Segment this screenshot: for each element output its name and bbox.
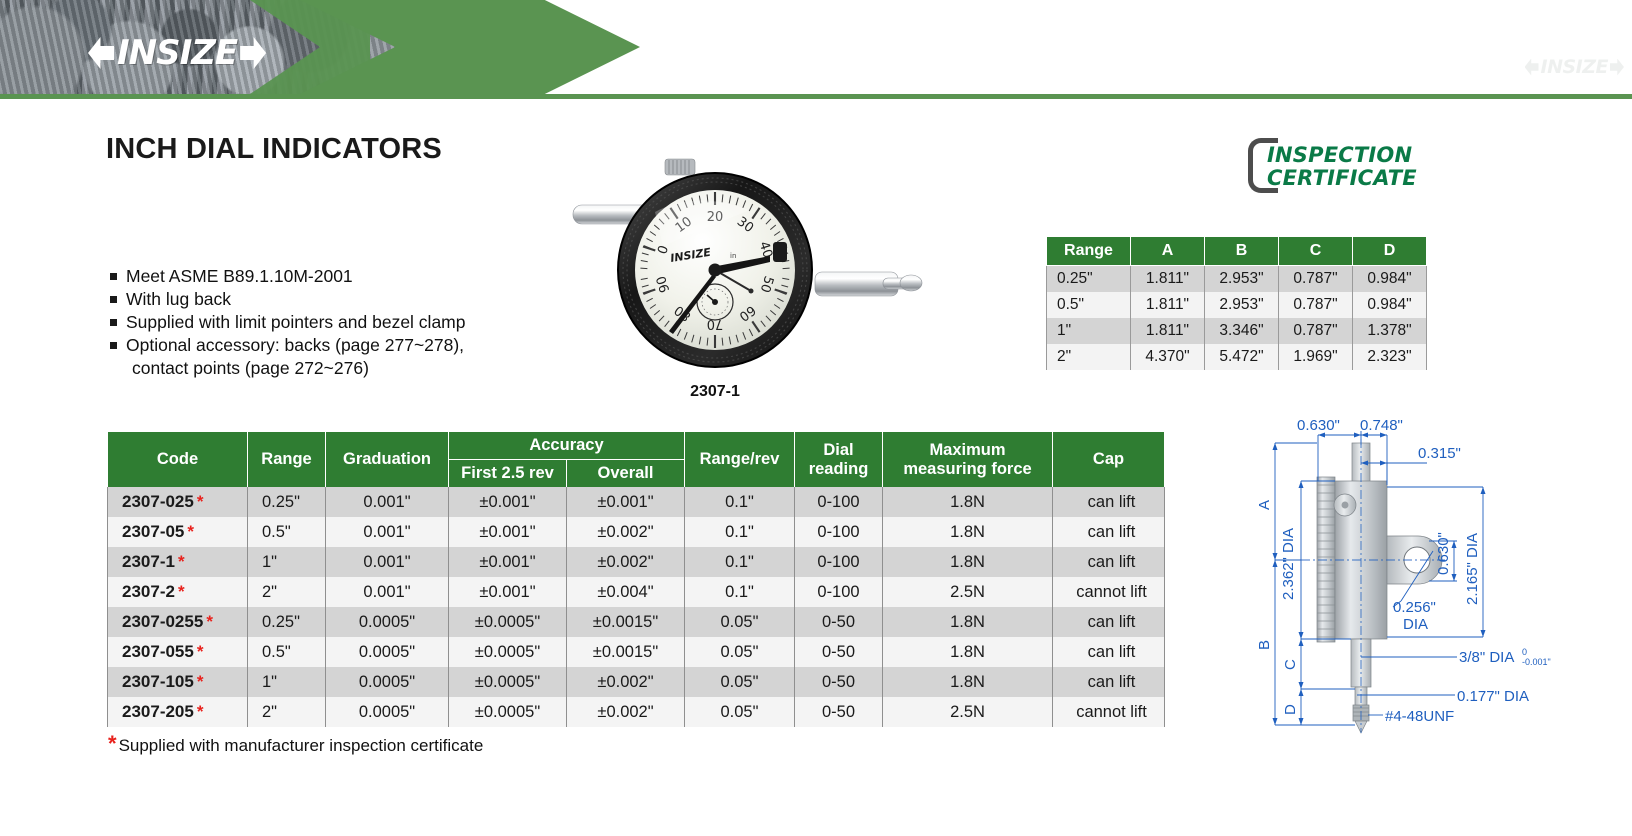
cell-range: 0.5" xyxy=(248,637,326,667)
list-item-continuation: contact points (page 272~276) xyxy=(132,357,630,379)
dim-0256-dia-line2: DIA xyxy=(1403,616,1428,633)
cell-code: 2307-05* xyxy=(108,517,248,547)
cell-range: 2" xyxy=(248,577,326,607)
table-row: 1" 1.811" 3.346" 0.787" 1.378" xyxy=(1047,318,1427,344)
cell-range-per-rev: 0.05" xyxy=(685,607,795,637)
cell-range-per-rev: 0.1" xyxy=(685,517,795,547)
dim-0748-top: 0.748" xyxy=(1360,417,1403,434)
cell-c: 0.787" xyxy=(1279,266,1353,293)
dim-2165-dia: 2.165" DIA xyxy=(1464,533,1481,605)
col-range: Range xyxy=(248,432,326,487)
spindle-rod xyxy=(815,272,922,296)
cell-b: 5.472" xyxy=(1205,344,1279,370)
cell-force: 1.8N xyxy=(883,517,1053,547)
col-a: A xyxy=(1131,237,1205,266)
list-item-label: Supplied with limit pointers and bezel c… xyxy=(126,311,465,333)
code-value: 2307-2 xyxy=(122,582,175,601)
col-dial-reading: Dial reading xyxy=(795,432,883,487)
cell-accuracy-first: ±0.0005" xyxy=(449,667,567,697)
cell-accuracy-overall: ±0.002" xyxy=(567,547,685,577)
table-row: 2307-205* 2" 0.0005" ±0.0005" ±0.002" 0.… xyxy=(108,697,1165,727)
code-value: 2307-025 xyxy=(122,492,194,511)
bullet-square-icon xyxy=(110,319,117,326)
cell-cap: can lift xyxy=(1053,547,1165,577)
watermark-arrow-left-icon xyxy=(1525,59,1539,76)
certificate-asterisk: * xyxy=(178,582,185,601)
insize-watermark-logo: INSIZE xyxy=(1525,56,1624,78)
code-value: 2307-055 xyxy=(122,642,194,661)
dim-stem-tol-lower: -0.001" xyxy=(1522,657,1551,667)
list-item: Optional accessory: backs (page 277~278)… xyxy=(110,334,630,356)
bullet-square-icon xyxy=(110,342,117,349)
inspection-certificate-badge: INSPECTION CERTIFICATE xyxy=(1248,138,1463,200)
dimension-table: Range A B C D 0.25" 1.811" 2.953" 0.787"… xyxy=(1046,236,1427,370)
dim-letter-a: A xyxy=(1256,500,1273,510)
watermark-arrow-right-icon xyxy=(1610,59,1624,76)
cell-code: 2307-025* xyxy=(108,487,248,517)
cell-accuracy-overall: ±0.002" xyxy=(567,697,685,727)
cell-accuracy-first: ±0.001" xyxy=(449,547,567,577)
col-accuracy-group: Accuracy xyxy=(449,432,685,460)
catalog-page: INSIZE INSIZE INCH DIAL INDICATORS Meet … xyxy=(0,0,1632,836)
list-item-label: With lug back xyxy=(126,288,231,310)
cell-a: 1.811" xyxy=(1131,292,1205,318)
cell-force: 1.8N xyxy=(883,547,1053,577)
cell-dial-reading: 0-100 xyxy=(795,487,883,517)
table-row: 2307-055* 0.5" 0.0005" ±0.0005" ±0.0015"… xyxy=(108,637,1165,667)
max-force-line1: Maximum xyxy=(929,441,1005,459)
certificate-asterisk: * xyxy=(206,612,213,631)
cell-graduation: 0.0005" xyxy=(326,637,449,667)
table-row: 2307-05* 0.5" 0.001" ±0.001" ±0.002" 0.1… xyxy=(108,517,1165,547)
cell-code: 2307-105* xyxy=(108,667,248,697)
col-b: B xyxy=(1205,237,1279,266)
list-item: Supplied with limit pointers and bezel c… xyxy=(110,311,630,333)
cell-d: 0.984" xyxy=(1353,292,1427,318)
col-max-measuring-force: Maximum measuring force xyxy=(883,432,1053,487)
certificate-asterisk: * xyxy=(197,642,204,661)
cell-accuracy-overall: ±0.001" xyxy=(567,487,685,517)
cell-dial-reading: 0-50 xyxy=(795,607,883,637)
cell-code: 2307-205* xyxy=(108,697,248,727)
col-range-per-rev: Range/rev xyxy=(685,432,795,487)
cell-accuracy-first: ±0.0005" xyxy=(449,637,567,667)
dim-letter-c: C xyxy=(1282,659,1299,670)
inspection-label: INSPECTION xyxy=(1267,144,1417,167)
cell-graduation: 0.001" xyxy=(326,517,449,547)
cell-accuracy-overall: ±0.0015" xyxy=(567,607,685,637)
drawing-bezel-knurl xyxy=(1317,477,1335,642)
cell-range-per-rev: 0.05" xyxy=(685,697,795,727)
product-caption: 2307-1 xyxy=(565,383,865,401)
table-row: 0.25" 1.811" 2.953" 0.787" 0.984" xyxy=(1047,266,1427,293)
cell-force: 1.8N xyxy=(883,487,1053,517)
dial-reading-line1: Dial xyxy=(823,441,853,459)
footnote-asterisk: * xyxy=(108,736,117,752)
dial-unit-label: in xyxy=(730,252,736,260)
cell-cap: can lift xyxy=(1053,607,1165,637)
insize-logo-text: INSIZE xyxy=(117,36,237,70)
header-divider xyxy=(0,94,1632,99)
cell-graduation: 0.001" xyxy=(326,487,449,517)
cell-code: 2307-055* xyxy=(108,637,248,667)
cell-accuracy-first: ±0.001" xyxy=(449,517,567,547)
dim-0315: 0.315" xyxy=(1418,445,1461,462)
dim-stem-tol-upper: 0 xyxy=(1522,647,1527,657)
cell-c: 0.787" xyxy=(1279,318,1353,344)
cell-accuracy-first: ±0.0005" xyxy=(449,697,567,727)
cell-range: 0.5" xyxy=(1047,292,1131,318)
cell-graduation: 0.0005" xyxy=(326,667,449,697)
bullet-square-icon xyxy=(110,273,117,280)
list-item-label: Optional accessory: backs (page 277~278)… xyxy=(126,334,464,356)
cell-code: 2307-0255* xyxy=(108,607,248,637)
certificate-asterisk: * xyxy=(178,552,185,571)
dim-0630-top: 0.630" xyxy=(1297,417,1340,434)
cell-dial-reading: 0-100 xyxy=(795,547,883,577)
cell-force: 1.8N xyxy=(883,667,1053,697)
cell-range: 1" xyxy=(248,547,326,577)
table-row: 2307-2* 2" 0.001" ±0.001" ±0.004" 0.1" 0… xyxy=(108,577,1165,607)
cell-d: 2.323" xyxy=(1353,344,1427,370)
page-header: INSIZE INSIZE xyxy=(0,0,1632,100)
cell-accuracy-first: ±0.001" xyxy=(449,577,567,607)
cell-accuracy-overall: ±0.002" xyxy=(567,667,685,697)
cell-a: 1.811" xyxy=(1131,318,1205,344)
cell-accuracy-overall: ±0.004" xyxy=(567,577,685,607)
cell-graduation: 0.0005" xyxy=(326,697,449,727)
cell-range-per-rev: 0.1" xyxy=(685,577,795,607)
cell-cap: can lift xyxy=(1053,667,1165,697)
cell-d: 0.984" xyxy=(1353,266,1427,293)
table-row: 0.5" 1.811" 2.953" 0.787" 0.984" xyxy=(1047,292,1427,318)
cell-dial-reading: 0-50 xyxy=(795,637,883,667)
col-code: Code xyxy=(108,432,248,487)
cell-range: 0.25" xyxy=(248,607,326,637)
dim-thread: #4-48UNF xyxy=(1385,708,1454,725)
cell-dial-reading: 0-50 xyxy=(795,667,883,697)
cell-range: 1" xyxy=(248,667,326,697)
table-row: 2307-025* 0.25" 0.001" ±0.001" ±0.001" 0… xyxy=(108,487,1165,517)
code-value: 2307-205 xyxy=(122,702,194,721)
col-d: D xyxy=(1353,237,1427,266)
list-item: Meet ASME B89.1.10M-2001 xyxy=(110,265,630,287)
col-accuracy-first: First 2.5 rev xyxy=(449,460,567,488)
bezel-crown xyxy=(665,159,695,175)
cell-force: 1.8N xyxy=(883,607,1053,637)
cell-b: 3.346" xyxy=(1205,318,1279,344)
arrow-left-icon xyxy=(88,37,114,69)
list-item-label: Meet ASME B89.1.10M-2001 xyxy=(126,265,353,287)
col-c: C xyxy=(1279,237,1353,266)
cell-accuracy-first: ±0.001" xyxy=(449,487,567,517)
cell-range-per-rev: 0.05" xyxy=(685,637,795,667)
cell-graduation: 0.001" xyxy=(326,577,449,607)
cell-range-per-rev: 0.05" xyxy=(685,667,795,697)
technical-drawing: 0.630" 0.748" 0.315" 2.362" DIA 0.630" 2… xyxy=(1205,405,1630,735)
product-image-dial-indicator: 20 30 40 50 60 70 80 90 0 10 INSIZE in xyxy=(565,150,995,395)
cell-a: 1.811" xyxy=(1131,266,1205,293)
footnote-text: Supplied with manufacturer inspection ce… xyxy=(119,736,484,756)
col-graduation: Graduation xyxy=(326,432,449,487)
cell-cap: can lift xyxy=(1053,517,1165,547)
col-cap: Cap xyxy=(1053,432,1165,487)
cell-range-per-rev: 0.1" xyxy=(685,547,795,577)
cell-force: 2.5N xyxy=(883,577,1053,607)
dial-reading-line2: reading xyxy=(809,460,869,478)
col-accuracy-overall: Overall xyxy=(567,460,685,488)
table-row: 2307-1* 1" 0.001" ±0.001" ±0.002" 0.1" 0… xyxy=(108,547,1165,577)
cell-accuracy-first: ±0.0005" xyxy=(449,607,567,637)
footnote: * Supplied with manufacturer inspection … xyxy=(108,736,483,756)
cell-cap: can lift xyxy=(1053,637,1165,667)
arrow-right-icon xyxy=(240,37,266,69)
cell-code: 2307-1* xyxy=(108,547,248,577)
dim-stem-dia: 3/8" DIA xyxy=(1459,649,1514,666)
svg-text:70: 70 xyxy=(707,316,724,331)
specification-table: Code Range Graduation Accuracy Range/rev… xyxy=(107,432,1165,727)
certificate-label: CERTIFICATE xyxy=(1267,167,1417,190)
insize-logo: INSIZE xyxy=(88,36,266,70)
certificate-asterisk: * xyxy=(197,492,204,511)
cell-cap: can lift xyxy=(1053,487,1165,517)
cell-code: 2307-2* xyxy=(108,577,248,607)
cell-dial-reading: 0-100 xyxy=(795,577,883,607)
dim-0630-lug: 0.630" xyxy=(1435,532,1452,575)
cell-accuracy-overall: ±0.002" xyxy=(567,517,685,547)
cell-cap: cannot lift xyxy=(1053,577,1165,607)
dim-letter-d: D xyxy=(1282,704,1299,715)
cell-range: 2" xyxy=(1047,344,1131,370)
cell-graduation: 0.001" xyxy=(326,547,449,577)
cell-range: 1" xyxy=(1047,318,1131,344)
feature-list: Meet ASME B89.1.10M-2001 With lug back S… xyxy=(110,265,630,379)
dim-letter-b: B xyxy=(1256,640,1273,650)
certificate-asterisk: * xyxy=(187,522,194,541)
cell-c: 1.969" xyxy=(1279,344,1353,370)
page-title: INCH DIAL INDICATORS xyxy=(106,133,442,166)
table-header-row: Range A B C D xyxy=(1047,237,1427,266)
certificate-asterisk: * xyxy=(197,672,204,691)
certificate-asterisk: * xyxy=(197,702,204,721)
cell-graduation: 0.0005" xyxy=(326,607,449,637)
dim-0256-dia-line1: 0.256" xyxy=(1393,599,1436,616)
list-item: With lug back xyxy=(110,288,630,310)
cell-dial-reading: 0-100 xyxy=(795,517,883,547)
cell-force: 2.5N xyxy=(883,697,1053,727)
cell-range-per-rev: 0.1" xyxy=(685,487,795,517)
cell-range: 0.25" xyxy=(1047,266,1131,293)
cell-range: 2" xyxy=(248,697,326,727)
table-header-row-top: Code Range Graduation Accuracy Range/rev… xyxy=(108,432,1165,460)
cell-range: 0.5" xyxy=(248,517,326,547)
table-row: 2307-105* 1" 0.0005" ±0.0005" ±0.002" 0.… xyxy=(108,667,1165,697)
max-force-line2: measuring force xyxy=(903,460,1031,478)
bezel-clamp xyxy=(773,242,787,262)
dim-tip-dia: 0.177" DIA xyxy=(1457,688,1529,705)
cell-force: 1.8N xyxy=(883,637,1053,667)
cell-cap: cannot lift xyxy=(1053,697,1165,727)
code-value: 2307-0255 xyxy=(122,612,203,631)
cell-dial-reading: 0-50 xyxy=(795,697,883,727)
cell-a: 4.370" xyxy=(1131,344,1205,370)
cell-range: 0.25" xyxy=(248,487,326,517)
cell-c: 0.787" xyxy=(1279,292,1353,318)
code-value: 2307-105 xyxy=(122,672,194,691)
bullet-square-icon xyxy=(110,296,117,303)
table-row: 2" 4.370" 5.472" 1.969" 2.323" xyxy=(1047,344,1427,370)
cell-accuracy-overall: ±0.0015" xyxy=(567,637,685,667)
cell-d: 1.378" xyxy=(1353,318,1427,344)
code-value: 2307-1 xyxy=(122,552,175,571)
cell-b: 2.953" xyxy=(1205,266,1279,293)
col-range: Range xyxy=(1047,237,1131,266)
dim-2362-dia: 2.362" DIA xyxy=(1280,528,1297,600)
spec-table-body: 2307-025* 0.25" 0.001" ±0.001" ±0.001" 0… xyxy=(108,487,1165,727)
watermark-logo-text: INSIZE xyxy=(1541,56,1608,78)
code-value: 2307-05 xyxy=(122,522,184,541)
cell-b: 2.953" xyxy=(1205,292,1279,318)
table-row: 2307-0255* 0.25" 0.0005" ±0.0005" ±0.001… xyxy=(108,607,1165,637)
